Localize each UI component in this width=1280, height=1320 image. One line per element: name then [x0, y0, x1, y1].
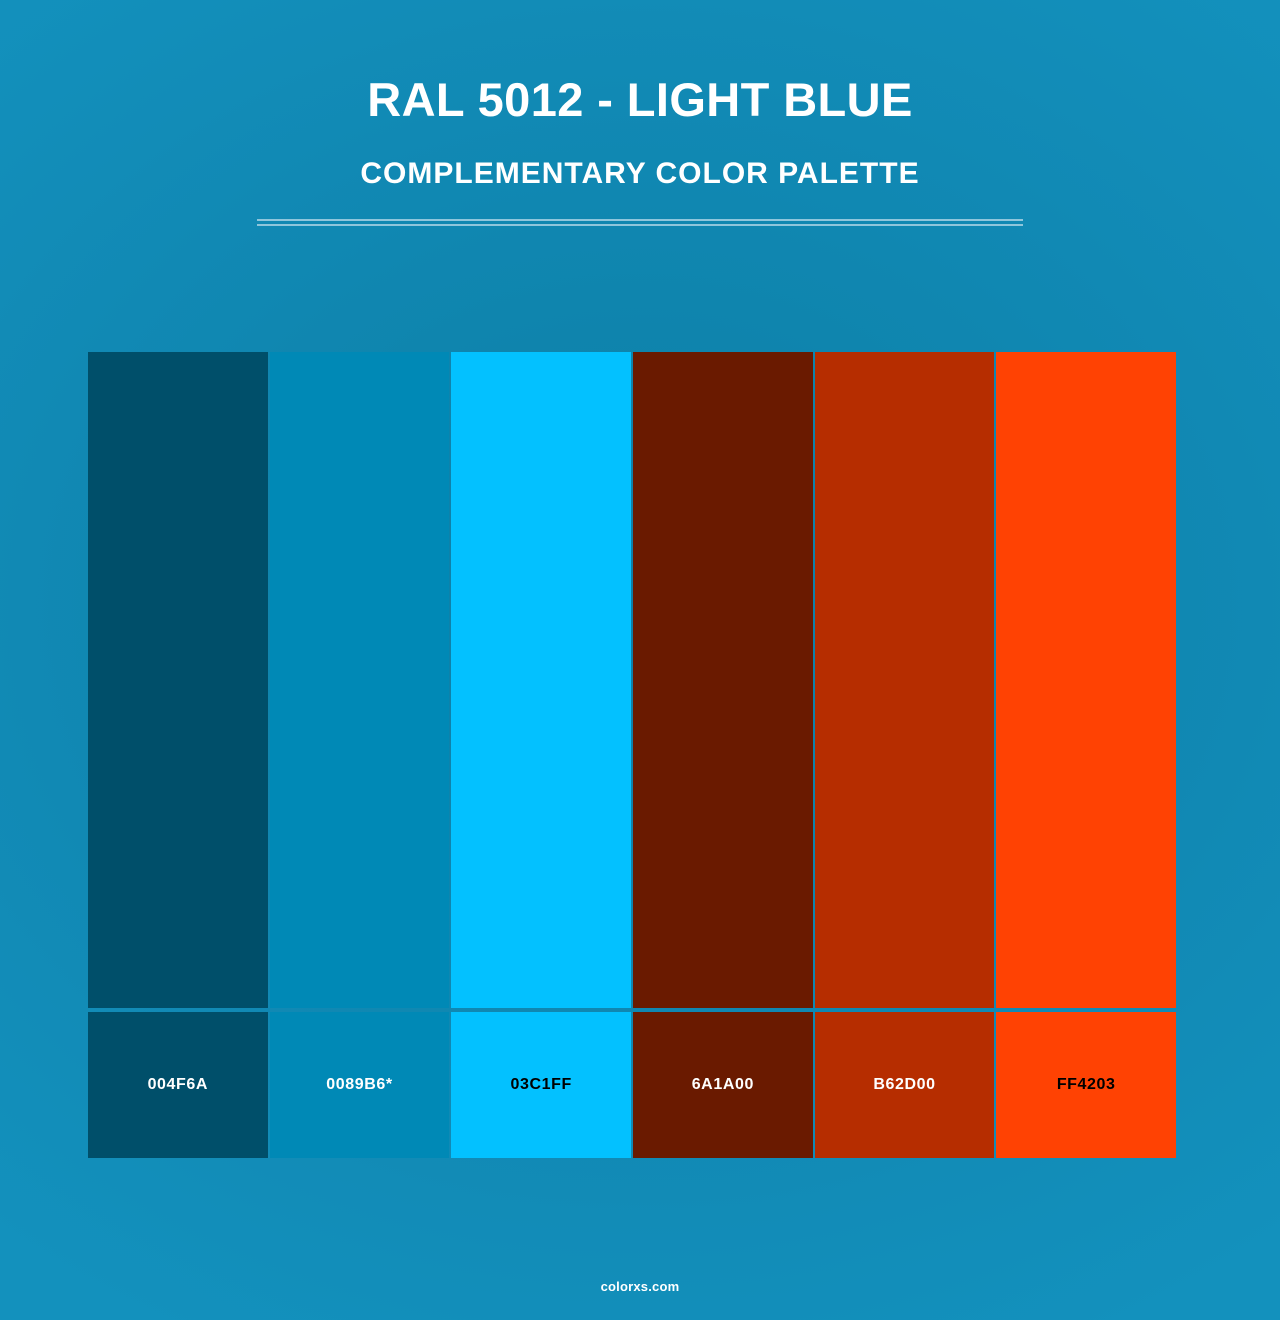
- color-label-cell[interactable]: 6A1A00: [633, 1012, 813, 1158]
- page-subtitle: COMPLEMENTARY COLOR PALETTE: [0, 123, 1280, 189]
- color-label-cell[interactable]: 004F6A: [88, 1012, 268, 1158]
- color-hex-label: B62D00: [873, 1076, 935, 1094]
- color-hex-label: FF4203: [1057, 1076, 1116, 1094]
- swatch-strip: [88, 352, 1176, 1008]
- color-palette: 004F6A 0089B6* 03C1FF 6A1A00 B62D00 FF42…: [88, 352, 1176, 1158]
- color-label-cell[interactable]: 03C1FF: [451, 1012, 631, 1158]
- color-hex-label: 03C1FF: [510, 1076, 571, 1094]
- header-divider: [257, 219, 1023, 226]
- header: RAL 5012 - LIGHT BLUE COMPLEMENTARY COLO…: [0, 0, 1280, 226]
- color-swatch[interactable]: [451, 352, 631, 1008]
- color-swatch[interactable]: [270, 352, 450, 1008]
- color-label-cell[interactable]: 0089B6*: [270, 1012, 450, 1158]
- color-hex-label: 6A1A00: [692, 1076, 754, 1094]
- palette-page: RAL 5012 - LIGHT BLUE COMPLEMENTARY COLO…: [0, 0, 1280, 1320]
- color-swatch[interactable]: [633, 352, 813, 1008]
- color-label-cell[interactable]: B62D00: [815, 1012, 995, 1158]
- color-hex-label: 004F6A: [148, 1076, 209, 1094]
- footer-site-label: colorxs.com: [0, 1279, 1280, 1294]
- swatch-label-strip: 004F6A 0089B6* 03C1FF 6A1A00 B62D00 FF42…: [88, 1012, 1176, 1158]
- color-swatch[interactable]: [996, 352, 1176, 1008]
- color-swatch[interactable]: [88, 352, 268, 1008]
- color-hex-label: 0089B6*: [326, 1076, 392, 1094]
- color-label-cell[interactable]: FF4203: [996, 1012, 1176, 1158]
- color-swatch[interactable]: [815, 352, 995, 1008]
- page-title: RAL 5012 - LIGHT BLUE: [0, 0, 1280, 123]
